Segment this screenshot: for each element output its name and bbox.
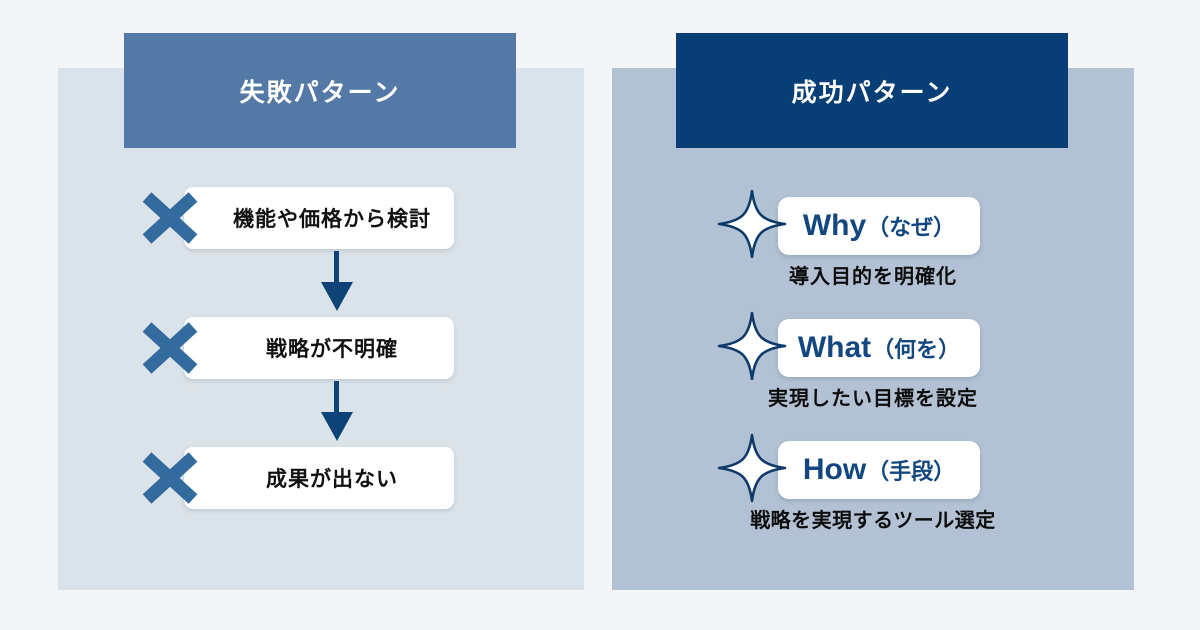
success-item: What （何を） 実現したい目標を設定 xyxy=(612,304,1134,426)
failure-banner: 失敗パターン xyxy=(124,33,516,148)
flow-connector xyxy=(58,251,584,315)
failure-step-label: 機能や価格から検討 xyxy=(207,203,431,233)
success-caption: 実現したい目標を設定 xyxy=(612,382,1134,411)
success-caption: 導入目的を明確化 xyxy=(612,260,1134,289)
failure-banner-title: 失敗パターン xyxy=(240,73,401,109)
failure-step-label: 成果が出ない xyxy=(240,463,398,493)
success-keyword-card: Why （なぜ） xyxy=(778,197,980,255)
down-arrow-icon xyxy=(319,381,355,445)
failure-step-label: 戦略が不明確 xyxy=(240,333,398,363)
success-keyword-reading: （なぜ） xyxy=(867,210,955,242)
success-item: Why （なぜ） 導入目的を明確化 xyxy=(612,182,1134,304)
failure-step-row: 成果が出ない xyxy=(58,445,584,511)
success-keyword-card: What （何を） xyxy=(778,319,980,377)
success-keyword-reading: （手段） xyxy=(867,454,955,486)
success-keyword-card: How （手段） xyxy=(778,441,980,499)
success-caption: 戦略を実現するツール選定 xyxy=(612,504,1134,533)
success-keyword: What xyxy=(798,331,871,365)
success-banner-title: 成功パターン xyxy=(792,73,953,109)
success-keyword-reading: （何を） xyxy=(872,332,960,364)
flow-connector xyxy=(58,381,584,445)
failure-step-row: 機能や価格から検討 xyxy=(58,185,584,251)
failure-step-card: 戦略が不明確 xyxy=(184,317,454,379)
failure-step-card: 機能や価格から検討 xyxy=(184,187,454,249)
infographic-canvas: 失敗パターン 機能や価格から検討 xyxy=(0,0,1200,630)
success-keyword: Why xyxy=(803,209,866,243)
failure-step-list: 機能や価格から検討 戦略が不明確 xyxy=(58,185,584,511)
down-arrow-icon xyxy=(319,251,355,315)
failure-step-card: 成果が出ない xyxy=(184,447,454,509)
success-item-list: Why （なぜ） 導入目的を明確化 What （何を） 実現したい目標を設定 H… xyxy=(612,182,1134,548)
success-banner: 成功パターン xyxy=(676,33,1068,148)
failure-step-row: 戦略が不明確 xyxy=(58,315,584,381)
success-keyword: How xyxy=(803,453,866,487)
success-item: How （手段） 戦略を実現するツール選定 xyxy=(612,426,1134,548)
